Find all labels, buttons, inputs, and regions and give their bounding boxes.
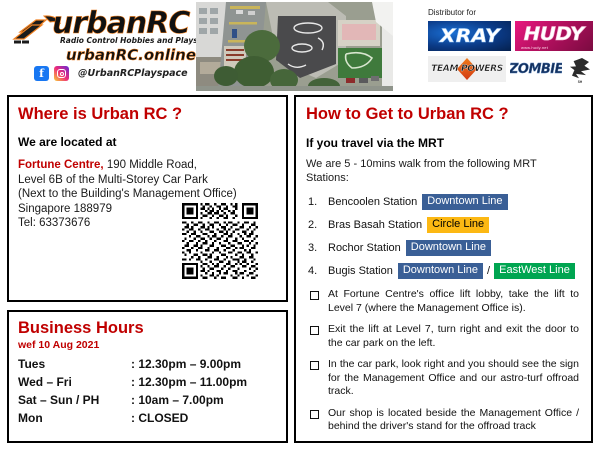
list-item: 1. Bencoolen Station Downtown Line	[296, 194, 591, 210]
brand-block: urbanRC Radio Control Hobbies and Playsp…	[8, 4, 198, 92]
zombie-logo-text: ZOMBIE	[510, 62, 562, 77]
hudy-logo: HUDY www.hudy.net	[515, 21, 593, 51]
list-item: 3. Rochor Station Downtown Line	[296, 240, 591, 256]
sh-engines-mark-icon	[570, 58, 590, 80]
list-item: Exit the lift at Level 7, turn right and…	[296, 323, 579, 350]
where-is-urban-rc-panel: Where is Urban RC ? We are located at Fo…	[7, 95, 288, 302]
sh-engines-logo-text: SH	[566, 80, 594, 84]
logo-row: urbanRC Radio Control Hobbies and Playsp…	[8, 4, 198, 50]
mrt-station-name: Bras Basah Station	[328, 219, 422, 231]
hours-time: : 10am – 7.00pm	[131, 391, 247, 409]
list-item: At Fortune Centre's office lift lobby, t…	[296, 288, 579, 315]
xray-logo-text: XRAY	[439, 25, 499, 47]
sh-engines-logo: SH	[566, 54, 594, 84]
mrt-line-badge-downtown: Downtown Line	[422, 194, 507, 210]
list-item: In the car park, look right and you shou…	[296, 358, 579, 399]
list-item: 2. Bras Basah Station Circle Line	[296, 217, 591, 233]
where-panel-subtitle: We are located at	[18, 135, 286, 149]
distributor-block: Distributor for XRAY HUDY www.hudy.net T…	[398, 2, 598, 92]
mrt-station-name: Rochor Station	[328, 242, 401, 254]
facebook-icon[interactable]: f	[34, 66, 49, 81]
address-line-5-telephone: Tel: 63373676	[18, 217, 90, 229]
how-to-panel-subtitle: If you travel via the MRT	[306, 136, 591, 150]
hours-day: Mon	[18, 409, 131, 427]
how-to-panel-title: How to Get to Urban RC ?	[306, 105, 591, 124]
hours-day: Sat – Sun / PH	[18, 391, 131, 409]
venue-name: Fortune Centre,	[18, 159, 104, 171]
xray-logo: XRAY	[428, 21, 511, 51]
direction-steps-list: At Fortune Centre's office lift lobby, t…	[296, 288, 591, 434]
mrt-line-badge-circle: Circle Line	[427, 217, 489, 233]
how-to-intro-text: We are 5 - 10mins walk from the followin…	[306, 157, 581, 185]
page-header: urbanRC Radio Control Hobbies and Playsp…	[0, 0, 600, 93]
where-panel-title: Where is Urban RC ?	[18, 105, 286, 124]
aerial-photo-image	[196, 2, 393, 91]
logo-website: urbanRC.online	[66, 46, 196, 64]
mrt-number: 3.	[308, 242, 328, 254]
social-row: f @UrbanRCPlayspace	[34, 66, 188, 81]
hours-day: Wed – Fri	[18, 373, 131, 391]
hours-time: : 12.30pm – 9.00pm	[131, 355, 247, 373]
mrt-number: 4.	[308, 265, 328, 277]
hudy-logo-url: www.hudy.net	[521, 45, 548, 50]
list-item: 4. Bugis Station Downtown Line / EastWes…	[296, 263, 591, 279]
mrt-station-list: 1. Bencoolen Station Downtown Line 2. Br…	[296, 194, 591, 279]
address-line-1: 190 Middle Road,	[104, 159, 197, 171]
mrt-number: 1.	[308, 196, 328, 208]
hours-time: : 12.30pm – 11.00pm	[131, 373, 247, 391]
qr-code-google-maps[interactable]	[182, 202, 258, 280]
team-powers-logo-text: TEAM POWERS	[431, 64, 503, 74]
logo-tagline: Radio Control Hobbies and Playspace	[60, 36, 218, 45]
instagram-icon[interactable]	[54, 66, 69, 81]
mrt-station-name: Bencoolen Station	[328, 196, 417, 208]
mrt-number: 2.	[308, 219, 328, 231]
mrt-badge-separator: /	[487, 265, 490, 277]
qr-code-image	[182, 202, 258, 280]
business-hours-table: Tues : 12.30pm – 9.00pm Wed – Fri : 12.3…	[18, 355, 247, 427]
mrt-line-badge-downtown: Downtown Line	[398, 263, 483, 279]
mrt-station-name: Bugis Station	[328, 265, 393, 277]
how-to-get-panel: How to Get to Urban RC ? If you travel v…	[294, 95, 593, 443]
table-row: Sat – Sun / PH : 10am – 7.00pm	[18, 391, 247, 409]
address-line-3: (Next to the Building's Management Offic…	[18, 188, 237, 200]
business-hours-panel: Business Hours wef 10 Aug 2021 Tues : 12…	[7, 310, 288, 443]
distributor-label: Distributor for	[428, 8, 476, 17]
team-powers-logo: TEAM POWERS	[428, 56, 506, 82]
mrt-line-badge-eastwest: EastWest Line	[494, 263, 575, 279]
list-item: Our shop is located beside the Managemen…	[296, 407, 579, 434]
table-row: Wed – Fri : 12.30pm – 11.00pm	[18, 373, 247, 391]
hours-day: Tues	[18, 355, 131, 373]
aerial-photo	[196, 2, 393, 91]
table-row: Tues : 12.30pm – 9.00pm	[18, 355, 247, 373]
zombie-logo: ZOMBIE	[510, 58, 562, 80]
address-line-4: Singapore 188979	[18, 203, 112, 215]
table-row: Mon : CLOSED	[18, 409, 247, 427]
hudy-logo-text: HUDY	[524, 23, 584, 45]
mrt-line-badge-downtown: Downtown Line	[406, 240, 491, 256]
business-hours-effective-date: wef 10 Aug 2021	[18, 339, 286, 351]
hours-time: : CLOSED	[131, 409, 247, 427]
business-hours-title: Business Hours	[18, 319, 286, 338]
social-handle: @UrbanRCPlayspace	[78, 68, 188, 79]
address-line-2: Level 6B of the Multi-Storey Car Park	[18, 174, 208, 186]
